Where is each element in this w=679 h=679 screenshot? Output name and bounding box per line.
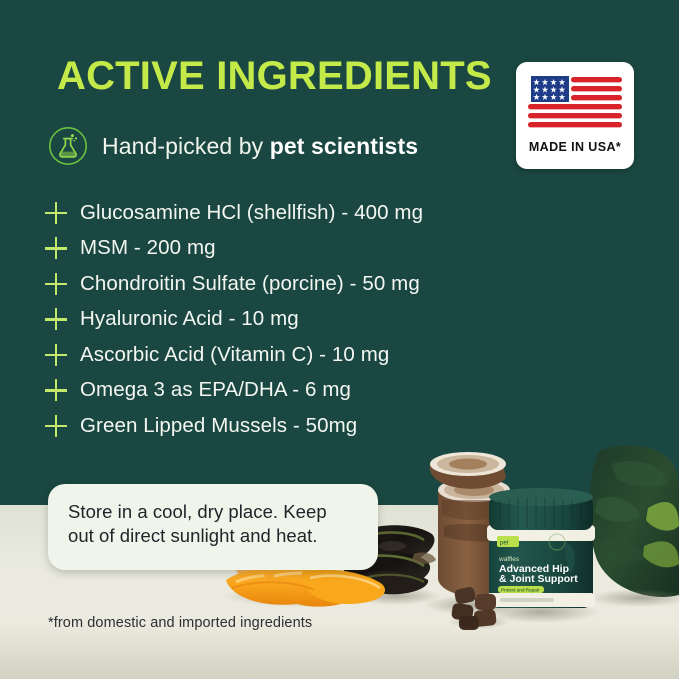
svg-text:& Joint Support: & Joint Support	[499, 573, 578, 585]
subtitle-bold: pet scientists	[270, 133, 418, 159]
kale-leaves	[588, 445, 679, 607]
footnote-text: *from domestic and imported ingredients	[48, 615, 312, 631]
storage-note-card: Store in a cool, dry place. Keep out of …	[48, 484, 378, 570]
ingredient-row: Green Lipped Mussels - 50mg	[43, 408, 513, 444]
plus-icon	[43, 235, 69, 261]
ingredient-label: Omega 3 as EPA/DHA - 6 mg	[80, 378, 351, 402]
page-title: ACTIVE INGREDIENTS	[57, 56, 492, 96]
plus-icon	[43, 306, 69, 332]
ingredient-label: Green Lipped Mussels - 50mg	[80, 414, 357, 438]
ingredient-label: MSM - 200 mg	[80, 236, 216, 260]
plus-icon	[43, 377, 69, 403]
storage-note-line-2: out of direct sunlight and heat.	[68, 524, 360, 548]
ingredient-row: MSM - 200 mg	[43, 231, 513, 267]
plus-icon	[43, 413, 69, 439]
made-in-usa-label: MADE IN USA*	[529, 140, 621, 154]
ingredients-list: Glucosamine HCl (shellfish) - 400 mg MSM…	[43, 195, 513, 444]
plus-icon	[43, 271, 69, 297]
svg-text:Protect and Repair: Protect and Repair	[501, 588, 540, 593]
ingredient-label: Chondroitin Sulfate (porcine) - 50 mg	[80, 272, 420, 296]
supplement-jar: pet waffles Advanced Hip & Joint Support…	[483, 488, 599, 623]
ingredient-row: Chondroitin Sulfate (porcine) - 50 mg	[43, 266, 513, 302]
subtitle-plain: Hand-picked by	[102, 133, 270, 159]
flask-icon	[48, 126, 88, 166]
subtitle-row: Hand-picked by pet scientists	[48, 126, 418, 166]
ingredient-label: Glucosamine HCl (shellfish) - 400 mg	[80, 201, 423, 225]
plus-icon	[43, 200, 69, 226]
usa-flag-icon	[527, 71, 623, 133]
made-in-usa-badge: MADE IN USA*	[516, 62, 634, 169]
ingredient-row: Hyaluronic Acid - 10 mg	[43, 302, 513, 338]
ingredient-label: Hyaluronic Acid - 10 mg	[80, 307, 299, 331]
infographic-canvas: pet waffles Advanced Hip & Joint Support…	[0, 0, 679, 679]
ingredient-label: Ascorbic Acid (Vitamin C) - 10 mg	[80, 343, 389, 367]
ingredient-row: Omega 3 as EPA/DHA - 6 mg	[43, 373, 513, 409]
svg-text:pet: pet	[500, 541, 509, 547]
storage-note-line-1: Store in a cool, dry place. Keep	[68, 500, 360, 524]
subtitle-text: Hand-picked by pet scientists	[102, 133, 418, 160]
plus-icon	[43, 342, 69, 368]
ingredient-row: Ascorbic Acid (Vitamin C) - 10 mg	[43, 337, 513, 373]
ingredient-row: Glucosamine HCl (shellfish) - 400 mg	[43, 195, 513, 231]
surface-shadow	[0, 625, 679, 679]
svg-text:waffles: waffles	[498, 556, 520, 563]
